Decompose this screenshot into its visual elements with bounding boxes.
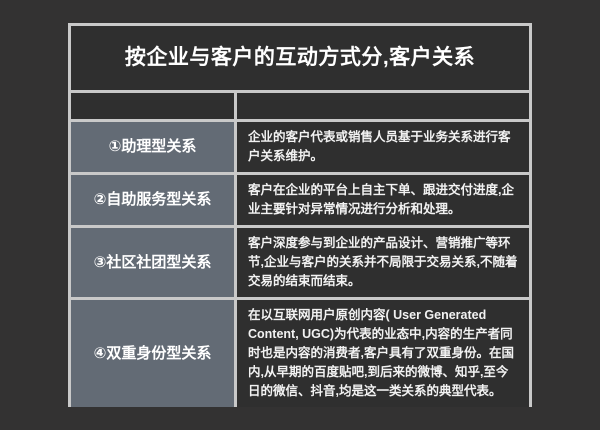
row-1-desc-text: 企业的客户代表或销售人员基于业务关系进行客户关系维护。 xyxy=(248,128,519,166)
row-2-label-text: ②自助服务型关系 xyxy=(94,190,212,210)
row-2-label-cell: ②自助服务型关系 xyxy=(71,175,234,225)
row-4-desc-text: 在以互联网用户原创内容( User Generated Content, UGC… xyxy=(248,306,519,401)
header-cell-label-column xyxy=(71,93,234,119)
row-4-label-cell: ④双重身份型关系 xyxy=(71,300,234,407)
header-cell-desc-column xyxy=(237,93,529,119)
row-2-desc-cell: 客户在企业的平台上自主下单、跟进交付进度,企业主要针对异常情况进行分析和处理。 xyxy=(237,175,529,225)
row-3-label-cell: ③社区社团型关系 xyxy=(71,228,234,297)
relationship-table: 按企业与客户的互动方式分,客户关系 ①助理型关系 企业的客户代表或销售人员基于业… xyxy=(68,23,532,407)
row-3-desc-text: 客户深度参与到企业的产品设计、营销推广等环节,企业与客户的关系并不局限于交易关系… xyxy=(248,234,519,291)
row-3-label-text: ③社区社团型关系 xyxy=(94,253,212,273)
row-1-label-cell: ①助理型关系 xyxy=(71,122,234,172)
slide-canvas: 按企业与客户的互动方式分,客户关系 ①助理型关系 企业的客户代表或销售人员基于业… xyxy=(0,0,600,430)
table-row: ①助理型关系 企业的客户代表或销售人员基于业务关系进行客户关系维护。 xyxy=(71,122,529,172)
row-1-desc-cell: 企业的客户代表或销售人员基于业务关系进行客户关系维护。 xyxy=(237,122,529,172)
row-1-label-text: ①助理型关系 xyxy=(109,137,197,157)
table-row: ②自助服务型关系 客户在企业的平台上自主下单、跟进交付进度,企业主要针对异常情况… xyxy=(71,175,529,225)
page-title: 按企业与客户的互动方式分,客户关系 xyxy=(125,45,475,70)
table-row: ③社区社团型关系 客户深度参与到企业的产品设计、营销推广等环节,企业与客户的关系… xyxy=(71,228,529,297)
table-header-row xyxy=(71,93,529,119)
table-row: ④双重身份型关系 在以互联网用户原创内容( User Generated Con… xyxy=(71,300,529,407)
row-4-label-text: ④双重身份型关系 xyxy=(94,344,212,364)
row-4-desc-cell: 在以互联网用户原创内容( User Generated Content, UGC… xyxy=(237,300,529,407)
row-3-desc-cell: 客户深度参与到企业的产品设计、营销推广等环节,企业与客户的关系并不局限于交易关系… xyxy=(237,228,529,297)
row-2-desc-text: 客户在企业的平台上自主下单、跟进交付进度,企业主要针对异常情况进行分析和处理。 xyxy=(248,181,519,219)
table-title-banner: 按企业与客户的互动方式分,客户关系 xyxy=(71,26,529,90)
